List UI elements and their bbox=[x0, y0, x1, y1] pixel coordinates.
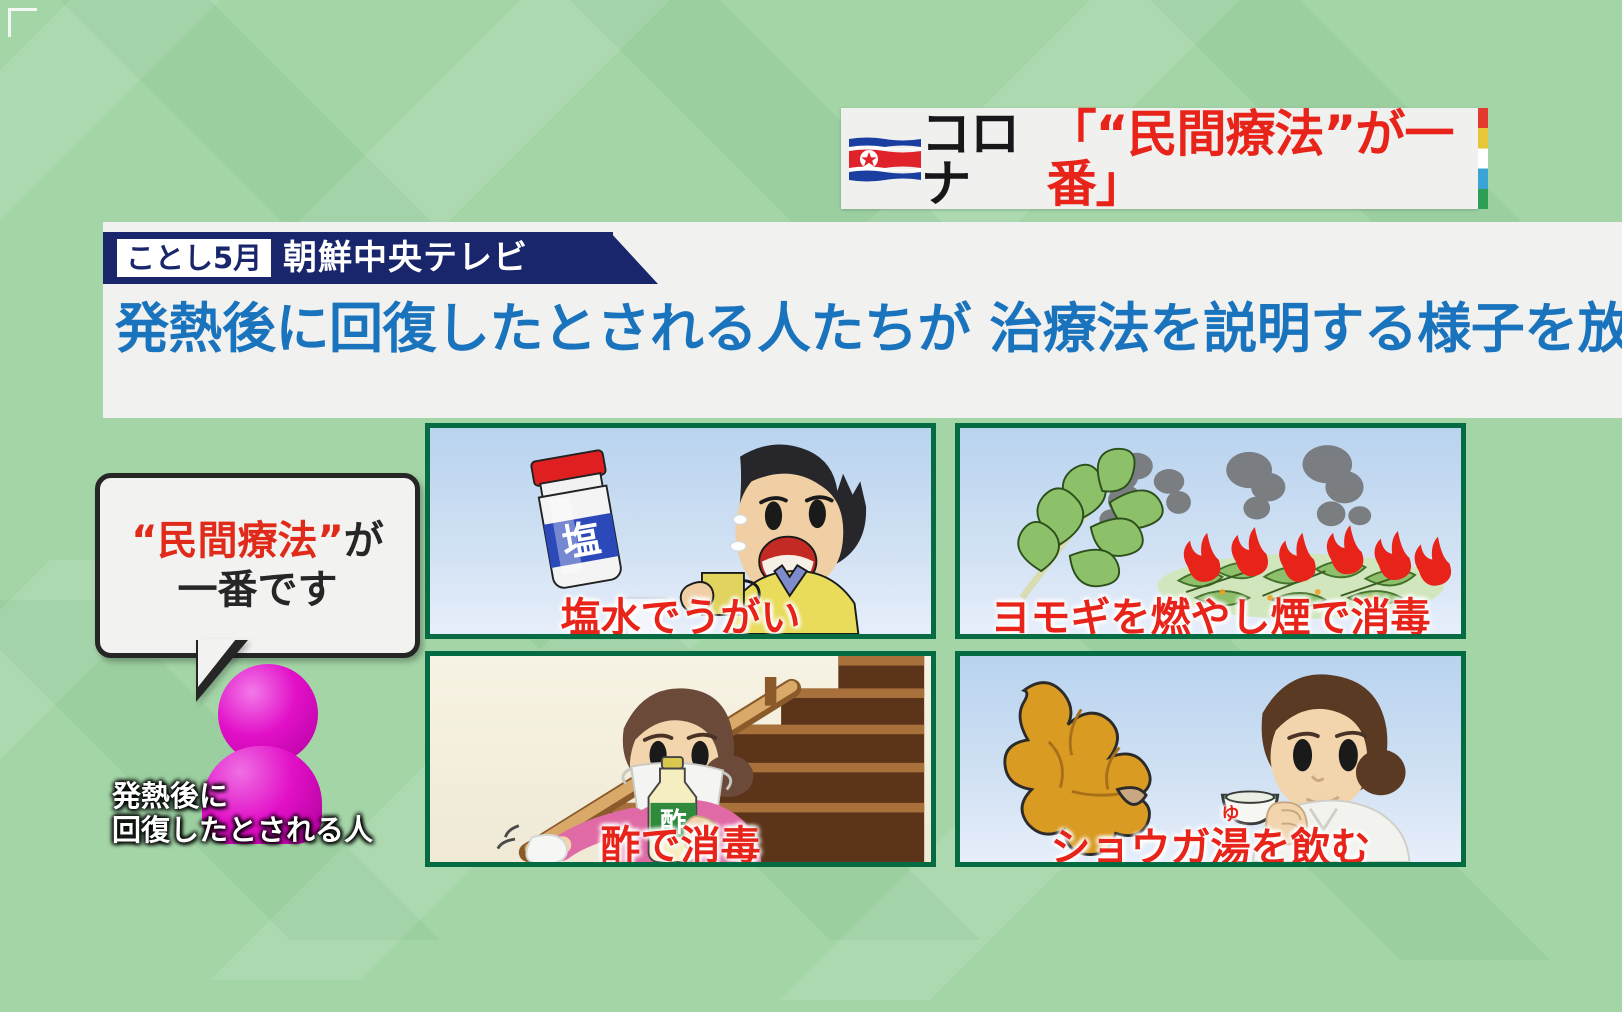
speech-bubble-line-1-red: “民間療法” bbox=[131, 518, 344, 564]
remedy-panel-grid: 塩 bbox=[425, 423, 1478, 871]
north-korea-flag-icon bbox=[849, 136, 921, 182]
title-text-red: 「“民間療法”が一番」 bbox=[1047, 109, 1478, 209]
remedy-panel-salt-gargle[interactable]: 塩 bbox=[425, 423, 936, 639]
remedy-panel-vinegar-disinfect[interactable]: 酢 酢で消毒 bbox=[425, 651, 936, 867]
source-name: 朝鮮中央テレビ bbox=[283, 238, 528, 278]
person-caption-line-2: 回復したとされる人 bbox=[112, 814, 432, 848]
speech-bubble-line-2: 一番です bbox=[178, 566, 338, 615]
person-caption-line-1: 発熱後に bbox=[112, 780, 432, 814]
date-chip: ことし5月 bbox=[117, 239, 271, 277]
headline-panel: ことし5月 朝鮮中央テレビ 発熱後に回復したとされる人たちが 治療法を説明する様… bbox=[103, 222, 1622, 418]
corner-mark-icon bbox=[8, 8, 37, 37]
source-bar: ことし5月 朝鮮中央テレビ bbox=[103, 232, 613, 284]
panel-caption-salt-gargle: 塩水でうがい bbox=[430, 598, 931, 638]
program-title-strip: コロナ 「“民間療法”が一番」 bbox=[841, 108, 1478, 209]
panel-caption-mugwort-smoke: ヨモギを燃やし煙で消毒 bbox=[960, 598, 1461, 638]
panel-caption-vinegar-disinfect: 酢で消毒 bbox=[430, 826, 931, 866]
caption-ruby-text: ゆ bbox=[1222, 806, 1240, 824]
panel-caption-ginger-tea: ショウガゆ湯を飲む bbox=[960, 828, 1461, 867]
remedy-panel-mugwort-smoke[interactable]: ヨモギを燃やし煙で消毒 bbox=[955, 423, 1466, 639]
date-chip-label: ことし5月 bbox=[126, 244, 262, 273]
caption-ruby-base: 湯 bbox=[1211, 825, 1251, 867]
page-title: 発熱後に回復したとされる人たちが 治療法を説明する様子を放送 bbox=[115, 300, 1615, 358]
remedy-panel-ginger-tea[interactable]: ショウガゆ湯を飲む bbox=[955, 651, 1466, 867]
speech-bubble-line-1: “民間療法”が bbox=[131, 517, 384, 566]
person-caption: 発熱後に 回復したとされる人 bbox=[112, 780, 432, 847]
caption-part-post: を飲む bbox=[1251, 825, 1371, 867]
speech-bubble: “民間療法”が 一番です bbox=[95, 473, 420, 658]
title-text-black: コロナ bbox=[921, 109, 1047, 209]
caption-part-pre: ショウガ bbox=[1051, 825, 1211, 867]
speech-bubble-line-1-black: が bbox=[344, 518, 384, 564]
color-bar-icon bbox=[1478, 108, 1488, 209]
caption-ruby-group: ゆ湯 bbox=[1211, 828, 1251, 867]
